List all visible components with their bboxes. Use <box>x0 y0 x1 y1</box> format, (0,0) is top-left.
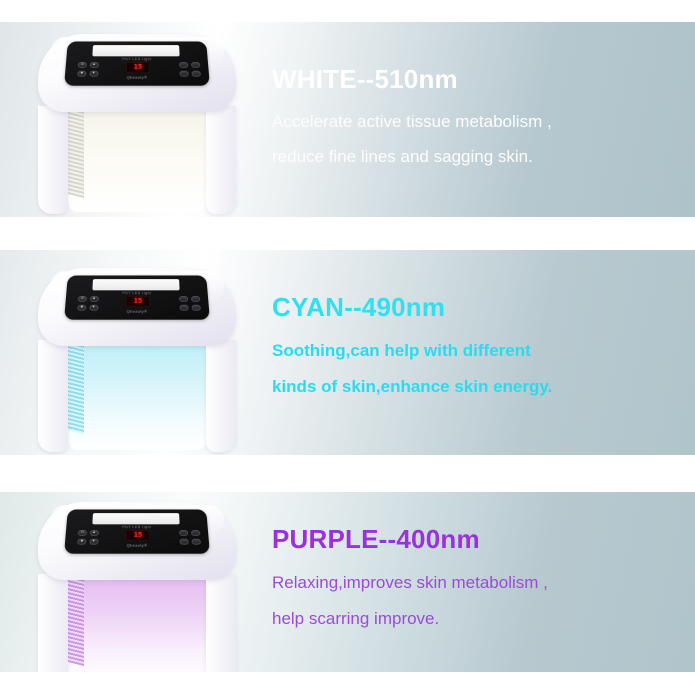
led-strip <box>68 576 84 666</box>
device-leg-right <box>206 340 236 452</box>
control-panel[interactable]: PDT LED light ⏻ ▲ ■ ▼ 15 <box>64 275 210 319</box>
panel-cyan: PDT LED light ⏻ ▲ ■ ▼ 15 <box>0 250 695 455</box>
led-therapy-device-white: PDT LED light ⏻ ▲ ■ ▼ 15 <box>18 28 258 217</box>
up-button[interactable]: ▲ <box>89 62 98 68</box>
timer-display: 15 <box>126 530 150 541</box>
led-strip <box>68 342 84 434</box>
panel-body-line-1: Accelerate active tissue metabolism , <box>272 113 672 130</box>
panel-body-line-2: help scarring improve. <box>272 610 672 627</box>
timer-value: 15 <box>134 532 143 539</box>
text-block-cyan: CYAN--490nm Soothing,can help with diffe… <box>272 292 672 395</box>
text-block-purple: PURPLE--400nm Relaxing,improves skin met… <box>272 524 672 627</box>
device-cavity <box>68 570 206 672</box>
power-icon: ⏻ <box>81 297 84 300</box>
panel-heading: WHITE--510nm <box>272 64 672 95</box>
panel-body-line-1: Relaxing,improves skin metabolism , <box>272 574 672 591</box>
device-leg-left <box>38 340 68 452</box>
display-screen <box>92 513 179 524</box>
led-therapy-device-purple: PDT LED light ⏻ ▲ ■ ▼ 15 <box>18 496 258 672</box>
mode-button-1[interactable] <box>179 530 188 536</box>
device-cavity <box>68 336 206 450</box>
brand-label-top: PDT LED light <box>66 525 208 529</box>
panel-white: PDT LED light ⏻ ▲ ■ ▼ 15 <box>0 22 695 217</box>
panel-heading: PURPLE--400nm <box>272 524 672 555</box>
brand-label-top: PDT LED light <box>66 57 208 61</box>
mode-button-1[interactable] <box>179 62 188 68</box>
panel-heading: CYAN--490nm <box>272 292 672 323</box>
device-leg-left <box>38 106 68 214</box>
brand-label-top: PDT LED light <box>66 291 208 295</box>
display-screen <box>92 279 179 290</box>
device-leg-left <box>38 574 68 672</box>
chevron-up-icon: ▲ <box>92 531 96 534</box>
panel-body-line-2: reduce fine lines and sagging skin. <box>272 148 672 165</box>
mode-button-2[interactable] <box>190 530 199 536</box>
display-screen <box>92 45 179 56</box>
up-button[interactable]: ▲ <box>89 296 98 302</box>
power-button[interactable]: ⏻ <box>78 530 87 536</box>
timer-display: 15 <box>126 296 150 307</box>
led-therapy-device-cyan: PDT LED light ⏻ ▲ ■ ▼ 15 <box>18 262 258 455</box>
brand-label-bottom: Qbeauty® <box>65 543 210 548</box>
control-panel[interactable]: PDT LED light ⏻ ▲ ■ ▼ 15 <box>64 509 210 553</box>
brand-label-bottom: Qbeauty® <box>65 309 210 314</box>
timer-value: 15 <box>134 64 143 71</box>
power-button[interactable]: ⏻ <box>78 62 87 68</box>
mode-button-1[interactable] <box>179 296 188 302</box>
mode-button-2[interactable] <box>190 296 199 302</box>
power-button[interactable]: ⏻ <box>78 296 87 302</box>
up-button[interactable]: ▲ <box>89 530 98 536</box>
mode-button-2[interactable] <box>190 62 199 68</box>
text-block-white: WHITE--510nm Accelerate active tissue me… <box>272 64 672 165</box>
device-leg-right <box>206 574 236 672</box>
power-icon: ⏻ <box>81 63 84 66</box>
timer-display: 15 <box>126 62 150 73</box>
control-panel[interactable]: PDT LED light ⏻ ▲ ■ ▼ 15 <box>64 41 210 85</box>
chevron-up-icon: ▲ <box>92 63 96 66</box>
brand-label-bottom: Qbeauty® <box>65 75 210 80</box>
power-icon: ⏻ <box>81 531 84 534</box>
chevron-up-icon: ▲ <box>92 297 96 300</box>
device-leg-right <box>206 106 236 214</box>
panel-body-line-1: Soothing,can help with different <box>272 342 672 359</box>
infographic-page: PDT LED light ⏻ ▲ ■ ▼ 15 <box>0 0 695 695</box>
panel-body-line-2: kinds of skin,enhance skin energy. <box>272 378 672 395</box>
led-strip <box>68 108 84 198</box>
panel-purple: PDT LED light ⏻ ▲ ■ ▼ 15 <box>0 492 695 672</box>
timer-value: 15 <box>134 298 143 305</box>
device-cavity <box>68 102 206 212</box>
